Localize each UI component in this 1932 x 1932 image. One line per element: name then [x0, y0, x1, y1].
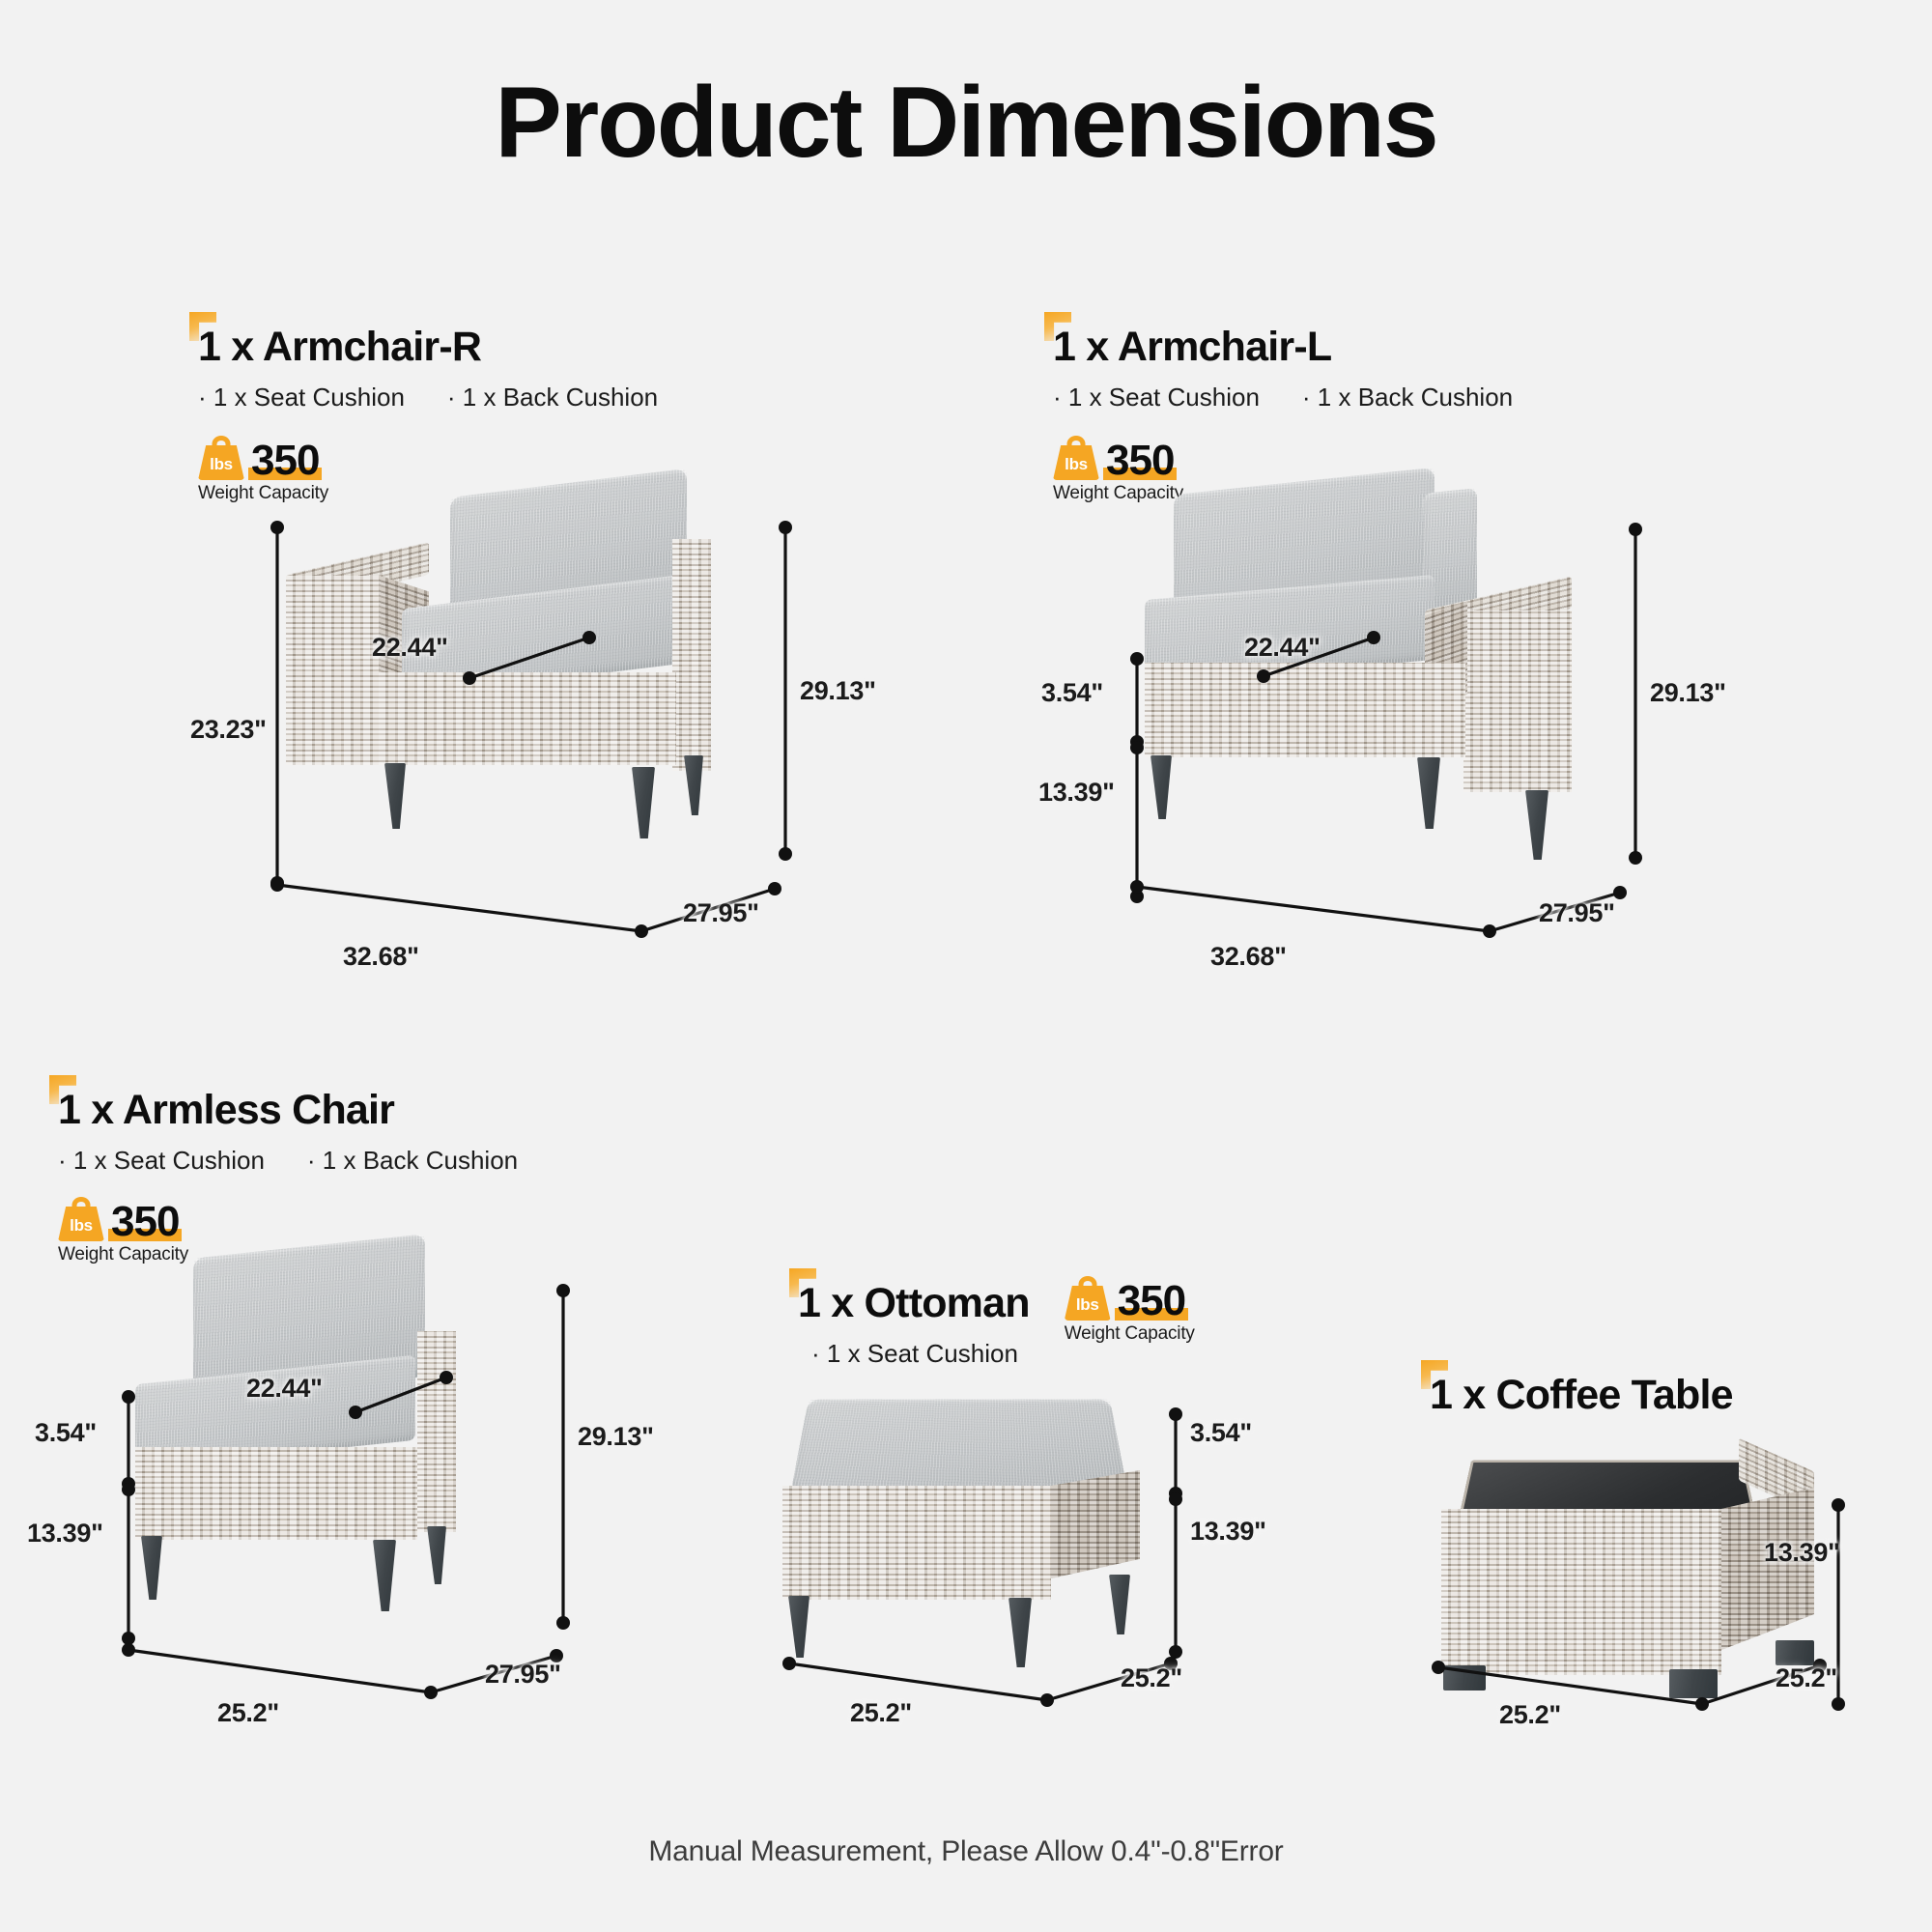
weight-value: 350: [1115, 1282, 1188, 1321]
leg: [384, 763, 406, 829]
dim-seat-width: 22.44": [246, 1374, 323, 1404]
page-title: Product Dimensions: [0, 66, 1932, 181]
base-front: [1145, 663, 1465, 757]
leg: [684, 755, 703, 815]
leg: [373, 1540, 396, 1611]
leg: [141, 1536, 162, 1600]
leg: [632, 767, 655, 838]
cushion-item: 1 x Back Cushion: [307, 1146, 518, 1176]
item-coffee-table: 1 x Coffee Table: [1430, 1372, 1733, 1419]
armless-chair-illustration: [135, 1246, 560, 1633]
dim-base-height: 13.39": [27, 1519, 103, 1548]
ottoman-heading: 1 x Ottoman: [798, 1280, 1030, 1327]
weight-unit-label: lbs: [198, 455, 244, 474]
weight-capacity-badge: lbs 350 Weight Capacity: [1065, 1276, 1195, 1345]
side-front: [1441, 1509, 1721, 1675]
armchair-l-heading: 1 x Armchair-L: [1053, 324, 1331, 371]
base-front: [135, 1447, 417, 1540]
item-title: 1 x Armless Chair: [58, 1087, 394, 1134]
dim-base-height: 13.39": [1038, 778, 1115, 808]
weight-value: 350: [108, 1203, 182, 1241]
weight-unit-label: lbs: [58, 1216, 104, 1236]
weight-caption: Weight Capacity: [1065, 1323, 1195, 1345]
weight-icon: lbs: [1053, 436, 1099, 480]
cushion-item: 1 x Back Cushion: [447, 383, 658, 412]
arm-side-left: [286, 576, 379, 765]
dim-cushion-thickness: 3.54": [1041, 678, 1103, 708]
dim-width: 32.68": [343, 942, 419, 972]
cushion-item: 1 x Seat Cushion: [58, 1146, 265, 1176]
dim-base-height: 13.39": [1190, 1517, 1266, 1547]
armchair-l-cushion-line: [1132, 653, 1142, 750]
leg: [1151, 755, 1172, 819]
leg: [1009, 1598, 1032, 1667]
dim-depth: 27.95": [485, 1660, 561, 1690]
base-front: [379, 672, 676, 765]
armless-base-height-line: [124, 1484, 133, 1646]
item-ottoman: 1 x Ottoman 1 x Seat Cushion lbs 350 Wei…: [798, 1280, 1195, 1369]
cushion-list: 1 x Seat Cushion 1 x Back Cushion: [198, 383, 658, 412]
armless-cushion-line: [124, 1391, 133, 1492]
item-armless-chair: 1 x Armless Chair 1 x Seat Cushion 1 x B…: [58, 1087, 518, 1265]
seat-cushion: [790, 1399, 1128, 1494]
leg: [1525, 790, 1548, 860]
foot: [1443, 1665, 1486, 1690]
item-title: 1 x Coffee Table: [1430, 1372, 1733, 1419]
arm-side-right: [1463, 611, 1572, 792]
ottoman-illustration: [773, 1391, 1179, 1681]
foot: [1776, 1640, 1814, 1665]
dim-width: 32.68": [1210, 942, 1287, 972]
footer-note: Manual Measurement, Please Allow 0.4"-0.…: [0, 1835, 1932, 1868]
cushion-item: 1 x Back Cushion: [1302, 383, 1513, 412]
armchair-r-height-left-line: [272, 522, 282, 889]
coffee-table-heading: 1 x Coffee Table: [1430, 1372, 1733, 1419]
leg: [788, 1596, 810, 1658]
cushion-list: 1 x Seat Cushion: [811, 1339, 1030, 1369]
dim-seat-width: 22.44": [372, 633, 448, 663]
leg: [1109, 1575, 1130, 1634]
dim-cushion-thickness: 3.54": [35, 1418, 97, 1448]
weight-icon: lbs: [58, 1197, 104, 1241]
cushion-list: 1 x Seat Cushion 1 x Back Cushion: [1053, 383, 1513, 412]
dim-depth: 25.2": [1776, 1663, 1837, 1693]
dim-height-right: 29.13": [800, 676, 876, 706]
base-front: [782, 1486, 1051, 1600]
cushion-item: 1 x Seat Cushion: [811, 1339, 1018, 1369]
armchair-r-heading: 1 x Armchair-R: [198, 324, 481, 371]
dim-depth: 25.2": [1121, 1663, 1182, 1693]
foot: [1669, 1669, 1718, 1698]
side-panel-right: [417, 1331, 456, 1532]
item-title: 1 x Armchair-R: [198, 324, 481, 371]
dim-height-left: 23.23": [190, 715, 267, 745]
weight-value: 350: [248, 441, 322, 480]
dim-width: 25.2": [850, 1698, 912, 1728]
dim-width: 25.2": [217, 1698, 279, 1728]
item-title: 1 x Armchair-L: [1053, 324, 1331, 371]
leg: [427, 1526, 446, 1584]
leg: [1417, 757, 1440, 829]
item-title: 1 x Ottoman: [798, 1280, 1030, 1327]
cushion-item: 1 x Seat Cushion: [198, 383, 405, 412]
weight-icon: lbs: [1065, 1276, 1111, 1321]
cushion-item: 1 x Seat Cushion: [1053, 383, 1260, 412]
dim-width: 25.2": [1499, 1700, 1561, 1730]
base-side: [1051, 1470, 1140, 1578]
coffee-table-illustration: [1420, 1449, 1835, 1719]
weight-unit-label: lbs: [1053, 455, 1099, 474]
dim-height: 13.39": [1764, 1538, 1840, 1568]
weight-unit-label: lbs: [1065, 1295, 1111, 1315]
dim-depth: 27.95": [683, 898, 759, 928]
item-armchair-r: 1 x Armchair-R 1 x Seat Cushion 1 x Back…: [198, 324, 658, 504]
dim-height-right: 29.13": [1650, 678, 1726, 708]
dim-height-right: 29.13": [578, 1422, 654, 1452]
side-right: [1721, 1488, 1814, 1650]
armchair-l-illustration: [1145, 473, 1705, 869]
side-panel-right: [672, 539, 711, 771]
dim-depth: 27.95": [1539, 898, 1615, 928]
weight-icon: lbs: [198, 436, 244, 480]
dim-seat-width: 22.44": [1244, 633, 1321, 663]
armchair-l-base-height-line: [1132, 742, 1142, 904]
armless-chair-heading: 1 x Armless Chair: [58, 1087, 394, 1134]
cushion-list: 1 x Seat Cushion 1 x Back Cushion: [58, 1146, 518, 1176]
armchair-r-illustration: [286, 483, 827, 869]
dim-cushion-thickness: 3.54": [1190, 1418, 1252, 1448]
